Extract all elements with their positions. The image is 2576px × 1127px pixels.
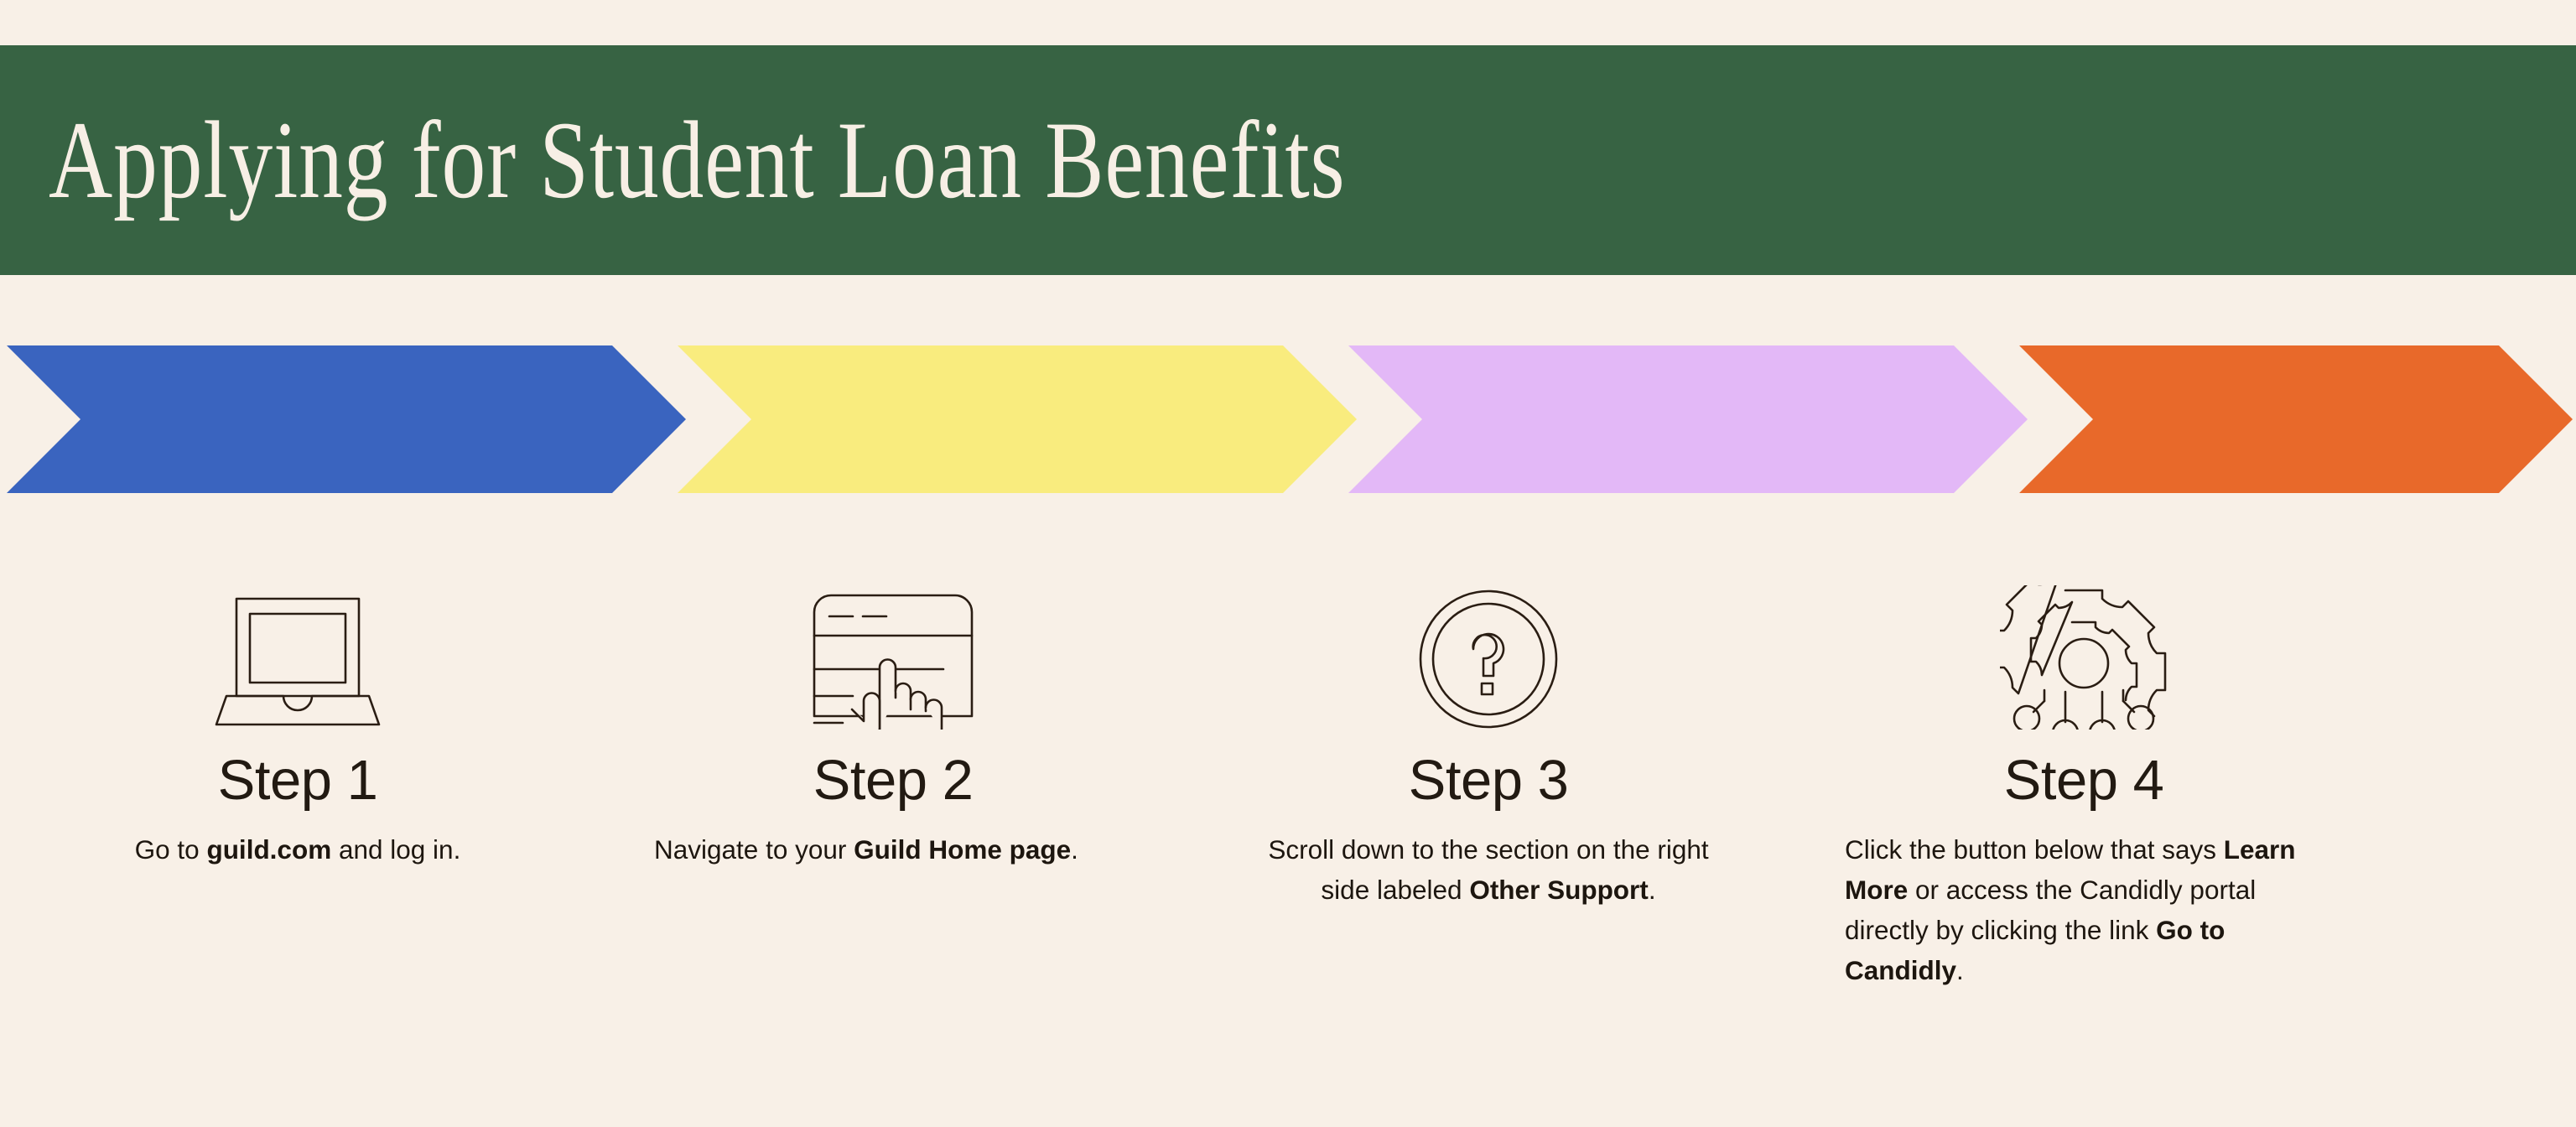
question-mark-circle-icon: [1418, 520, 1559, 730]
browser-click-icon: [809, 520, 977, 730]
step-title: Step 2: [813, 751, 974, 810]
step-description: Go to guild.com and log in.: [59, 830, 537, 870]
step-description: Scroll down to the section on the right …: [1249, 830, 1727, 911]
step-description: Navigate to your Guild Home page.: [654, 830, 1132, 870]
step-column-4: Step 4 Click the button below that says …: [1786, 520, 2381, 991]
step-column-3: Step 3 Scroll down to the section on the…: [1191, 520, 1786, 991]
progress-chevron-strip: [0, 345, 2576, 493]
step-column-2: Step 2 Navigate to your Guild Home page.: [595, 520, 1191, 991]
steps-row: Step 1 Go to guild.com and log in. Step …: [0, 520, 2576, 991]
laptop-icon: [210, 520, 386, 730]
step-title: Step 4: [2004, 751, 2164, 810]
step-column-1: Step 1 Go to guild.com and log in.: [0, 520, 595, 991]
page-header: Applying for Student Loan Benefits: [0, 45, 2576, 275]
page-title: Applying for Student Loan Benefits: [49, 105, 1345, 216]
step-title: Step 1: [218, 751, 378, 810]
step-title: Step 3: [1409, 751, 1569, 810]
chevron-step-4: [2019, 345, 2573, 493]
chevron-step-2: [678, 345, 1357, 493]
chevron-step-3: [1348, 345, 2028, 493]
chevron-step-1: [7, 345, 686, 493]
gear-settings-icon: [2000, 520, 2168, 730]
step-description: Click the button below that says Learn M…: [1845, 830, 2323, 991]
